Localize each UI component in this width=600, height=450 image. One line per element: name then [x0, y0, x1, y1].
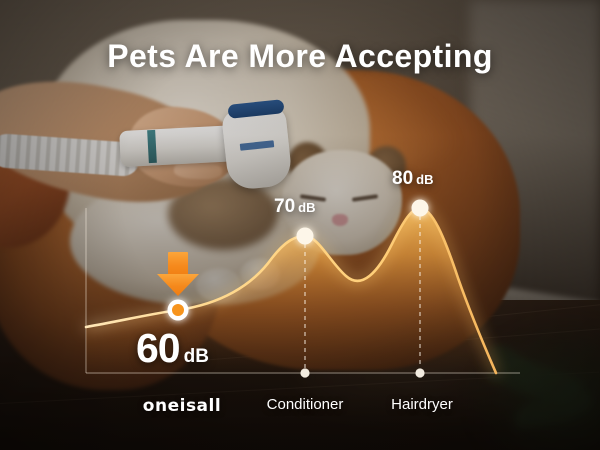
data-point-conditioner[interactable]	[297, 228, 314, 245]
value-label-hairdryer: 80dB	[392, 168, 433, 190]
x-axis-labels: oneisall Conditioner Hairdryer	[0, 396, 600, 420]
data-point-hairdryer[interactable]	[412, 200, 429, 217]
value-unit-hairdryer: dB	[416, 172, 433, 187]
value-number-conditioner: 70	[274, 196, 295, 217]
value-label-conditioner: 70dB	[274, 196, 315, 218]
axis-dot-conditioner	[300, 368, 309, 377]
value-unit-oneisall: dB	[184, 346, 209, 367]
page-title: Pets Are More Accepting	[0, 38, 600, 75]
down-arrow-icon	[157, 252, 199, 296]
value-number-oneisall: 60	[136, 325, 180, 371]
x-label-conditioner: Conditioner	[267, 396, 344, 413]
x-label-oneisall: oneisall	[143, 396, 221, 416]
data-point-oneisall-core	[172, 304, 184, 316]
value-label-oneisall: 60dB	[136, 325, 209, 372]
infographic-canvas: Pets Are More Accepting 70dB 80dB 60dB o…	[0, 0, 600, 450]
x-label-hairdryer: Hairdryer	[391, 396, 453, 413]
axis-dot-hairdryer	[415, 368, 424, 377]
value-number-hairdryer: 80	[392, 168, 413, 189]
value-unit-conditioner: dB	[298, 200, 315, 215]
